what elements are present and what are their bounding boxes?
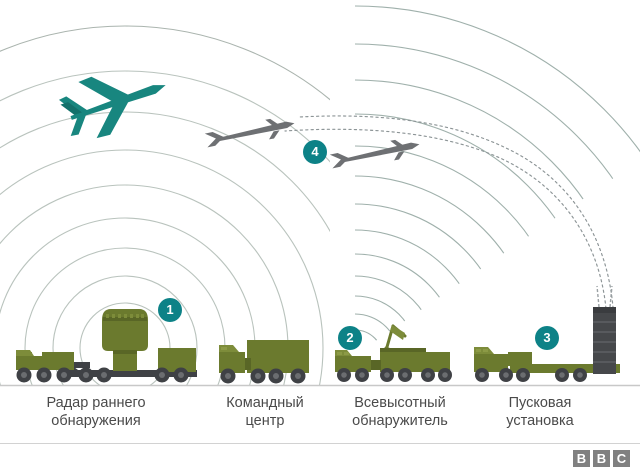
label-line: Радар раннего [16,394,176,412]
badge-circle-1 [158,298,182,322]
label-line: обнаружитель [325,412,475,430]
number-badges [158,140,559,350]
label-all-altitude-detector: Всевысотный обнаружитель [325,394,475,430]
label-line: центр [200,412,330,430]
badge-circle-2 [338,326,362,350]
target-aircraft [55,56,175,147]
label-line: Командный [200,394,330,412]
label-line: Пусковая [470,394,610,412]
label-command-center: Командный центр [200,394,330,430]
bbc-letter-block: C [613,450,630,467]
label-line: установка [470,412,610,430]
badge-circle-4 [303,140,327,164]
bbc-logo: B B C [573,450,630,467]
label-line: Всевысотный [325,394,475,412]
missile-trajectory-paths [285,116,614,330]
footer-divider [0,443,640,444]
infographic-root: 1 2 3 4 Радар раннего обнаружения Команд… [0,0,640,471]
bbc-letter-block: B [593,450,610,467]
bbc-letter-block: B [573,450,590,467]
label-early-warning-radar: Радар раннего обнаружения [16,394,176,430]
label-line: обнаружения [16,412,176,430]
badge-circle-3 [535,326,559,350]
vehicle-command-center [219,340,309,384]
label-launcher: Пусковая установка [470,394,610,430]
